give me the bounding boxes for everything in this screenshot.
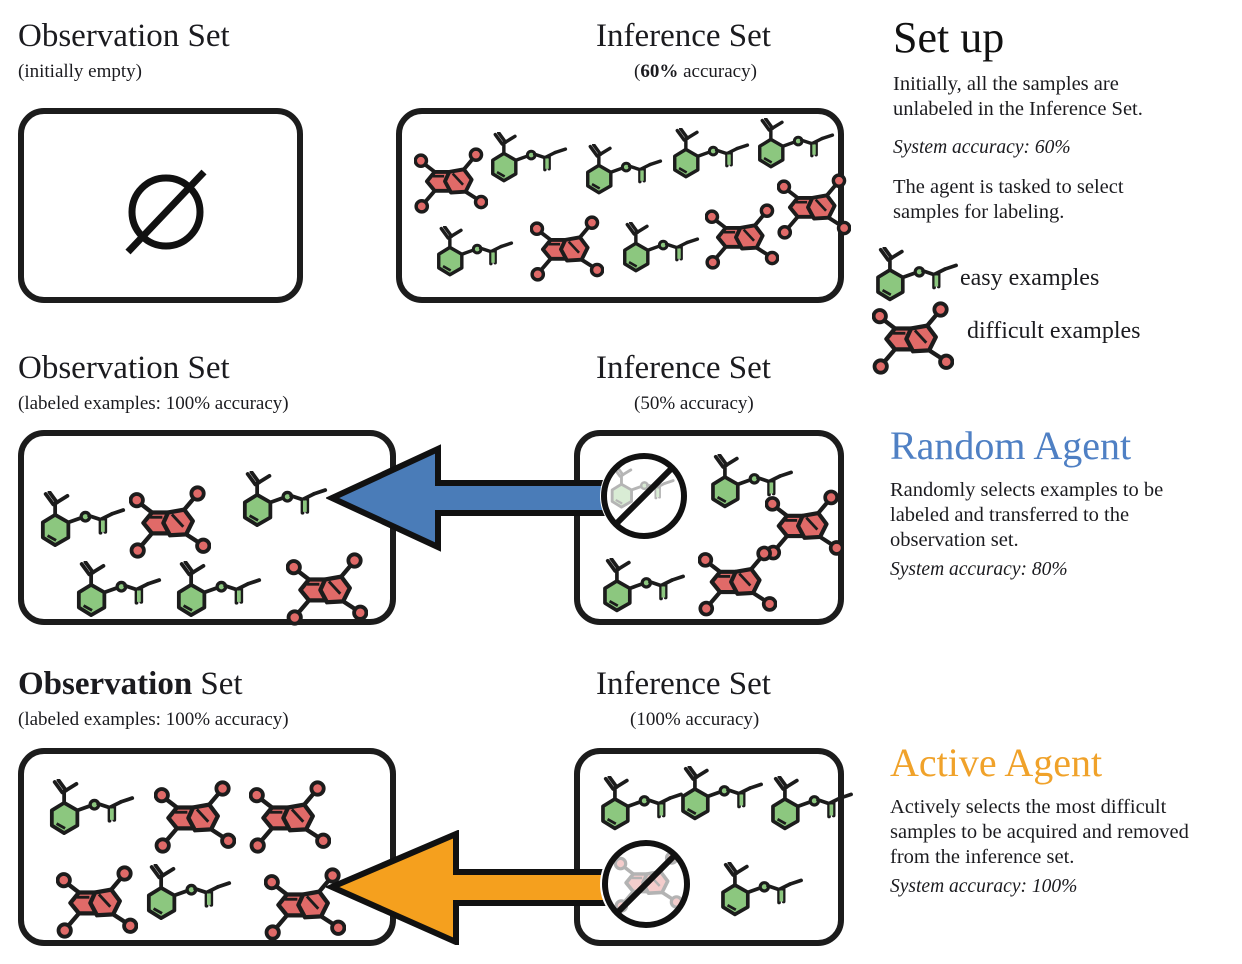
row2-inference-title-text: Inference Set [596, 350, 771, 386]
red-molecule-icon [154, 779, 236, 855]
red-molecule-icon [530, 214, 604, 283]
green-molecule-icon [720, 862, 805, 919]
empty-set-icon [106, 156, 226, 268]
random-agent-paragraph-text: Randomly selects examples to be labeled … [890, 479, 1163, 551]
row2-observation-title-text: Observation Set [18, 350, 230, 386]
red-molecule-icon [705, 202, 779, 271]
row1-inference-title: Inference Set [596, 20, 771, 53]
green-molecule-icon [602, 558, 687, 615]
green-molecule-icon [49, 779, 136, 843]
random-agent-title-text: Random Agent [890, 423, 1131, 468]
green-molecule-icon [490, 132, 569, 185]
red-molecule-icon [698, 544, 777, 623]
green-molecule-icon [242, 471, 329, 530]
legend-row-easy: easy examples [875, 247, 1215, 305]
green-molecule-icon [436, 226, 515, 284]
row2-inference-subtitle: (50% accuracy) [634, 394, 754, 413]
red-molecule-icon [249, 779, 331, 860]
green-molecule-icon [40, 491, 127, 555]
row2-inference-title: Inference Set [596, 352, 771, 385]
green-molecule-icon [757, 118, 836, 176]
green-molecule-icon [600, 776, 685, 838]
legend-row-difficult: difficult examples [872, 300, 1212, 366]
green-molecule-icon [622, 222, 701, 280]
row1-observation-title: Observation Set [18, 20, 230, 53]
active-agent-title: Active Agent [890, 742, 1102, 784]
green-molecule-icon [49, 779, 136, 838]
green-molecule-icon [875, 247, 971, 307]
active-removed-molecule-badge [600, 838, 692, 930]
red-molecule-icon [414, 146, 488, 215]
row1-observation-subtitle-text: (initially empty) [18, 61, 142, 82]
row3-observation-subtitle: (labeled examples: 100% accuracy) [18, 710, 289, 729]
green-molecule-icon [76, 561, 163, 620]
red-molecule-icon [777, 172, 851, 241]
red-molecule-icon [414, 146, 488, 220]
green-molecule-icon [490, 132, 569, 190]
prohibition-icon [600, 452, 688, 540]
active-agent-paragraph: Actively selects the most difficult samp… [890, 795, 1230, 870]
random-agent-title: Random Agent [890, 425, 1131, 467]
green-molecule-icon [40, 491, 127, 550]
red-molecule-icon [249, 779, 331, 855]
green-molecule-icon [770, 776, 855, 833]
green-molecule-icon [585, 144, 664, 197]
row1-inference-subtitle: (60% accuracy) [634, 62, 757, 81]
green-molecule-icon [600, 776, 685, 833]
setup-para2-text: The agent is tasked to select samples fo… [893, 176, 1124, 223]
row3-inference-title-text: Inference Set [596, 666, 771, 702]
red-molecule-icon [286, 551, 368, 632]
red-molecule-icon [154, 779, 236, 860]
row1-observation-subtitle: (initially empty) [18, 62, 142, 81]
row3-observation-subtitle-text: (labeled examples: 100% accuracy) [18, 709, 289, 730]
random-agent-accuracy-text: System accuracy: 80% [890, 559, 1068, 580]
green-molecule-icon [585, 144, 664, 202]
row2-accuracy-text: (50% accuracy) [634, 393, 754, 414]
molecule-group-row1-inference [402, 114, 838, 297]
green-molecule-icon [176, 561, 263, 620]
active-agent-accuracy: System accuracy: 100% [890, 875, 1210, 898]
red-molecule-icon [530, 214, 604, 288]
random-agent-accuracy: System accuracy: 80% [890, 558, 1210, 581]
active-agent-paragraph-text: Actively selects the most difficult samp… [890, 796, 1189, 868]
legend-easy-label-text: easy examples [960, 265, 1099, 291]
red-molecule-icon [56, 864, 138, 945]
active-transfer-arrow [326, 830, 626, 945]
setup-panel-paragraph-2: The agent is tasked to select samples fo… [893, 175, 1193, 225]
row3-observation-title: Observation Set [18, 668, 243, 701]
red-molecule-icon [777, 172, 851, 246]
random-agent-paragraph: Randomly selects examples to be labeled … [890, 478, 1180, 553]
green-molecule-icon [672, 128, 751, 186]
row2-observation-subtitle: (labeled examples: 100% accuracy) [18, 394, 289, 413]
red-molecule-icon [872, 300, 968, 366]
setup-panel-accuracy: System accuracy: 60% [893, 136, 1213, 159]
green-molecule-icon [622, 222, 701, 275]
green-molecule-icon [146, 864, 233, 923]
observation-set-box-row1 [18, 108, 303, 303]
green-molecule-icon [757, 118, 836, 171]
green-molecule-icon [680, 766, 765, 828]
red-molecule-icon [56, 864, 138, 940]
green-molecule-icon [76, 561, 163, 625]
random-removed-molecule-badge [600, 452, 688, 540]
prohibition-icon [600, 838, 692, 930]
row1-accuracy-value: 60% [640, 61, 678, 82]
row2-observation-title: Observation Set [18, 352, 230, 385]
red-molecule-icon [129, 484, 211, 565]
legend-easy-label: easy examples [960, 265, 1099, 292]
green-molecule-icon [770, 776, 855, 838]
row3-observation-title-bold: Observation [18, 666, 192, 702]
green-molecule-icon [602, 558, 687, 620]
green-molecule-icon [672, 128, 751, 181]
green-molecule-icon [146, 864, 233, 928]
row1-observation-title-text: Observation Set [18, 18, 230, 54]
green-molecule-icon [680, 766, 765, 823]
setup-panel-paragraph-1: Initially, all the samples are unlabeled… [893, 72, 1193, 122]
active-agent-title-text: Active Agent [890, 740, 1102, 785]
setup-title-text: Set up [893, 13, 1004, 62]
row3-inference-title: Inference Set [596, 668, 771, 701]
green-molecule-icon [436, 226, 515, 279]
red-molecule-icon [872, 300, 954, 376]
setup-accuracy-text: System accuracy: 60% [893, 137, 1071, 158]
row2-observation-subtitle-text: (labeled examples: 100% accuracy) [18, 393, 289, 414]
row3-observation-title-rest: Set [192, 666, 242, 702]
setup-panel-title: Set up [893, 16, 1004, 60]
green-molecule-icon [176, 561, 263, 625]
red-molecule-icon [286, 551, 368, 627]
legend-difficult-label-text: difficult examples [967, 318, 1141, 344]
legend-difficult-label: difficult examples [967, 318, 1141, 345]
row1-inference-title-text: Inference Set [596, 18, 771, 54]
red-molecule-icon [129, 484, 211, 560]
row3-inference-subtitle: (100% accuracy) [630, 710, 759, 729]
green-molecule-icon [875, 247, 960, 304]
red-molecule-icon [698, 544, 777, 618]
row1-accuracy-suffix: accuracy) [678, 61, 757, 82]
red-molecule-icon [705, 202, 779, 276]
inference-set-box-row1 [396, 108, 844, 303]
row3-accuracy-text: (100% accuracy) [630, 709, 759, 730]
green-molecule-icon [720, 862, 805, 924]
green-molecule-icon [242, 471, 329, 535]
active-agent-accuracy-text: System accuracy: 100% [890, 876, 1077, 897]
setup-para1-text: Initially, all the samples are unlabeled… [893, 73, 1143, 120]
random-transfer-arrow [326, 443, 626, 553]
